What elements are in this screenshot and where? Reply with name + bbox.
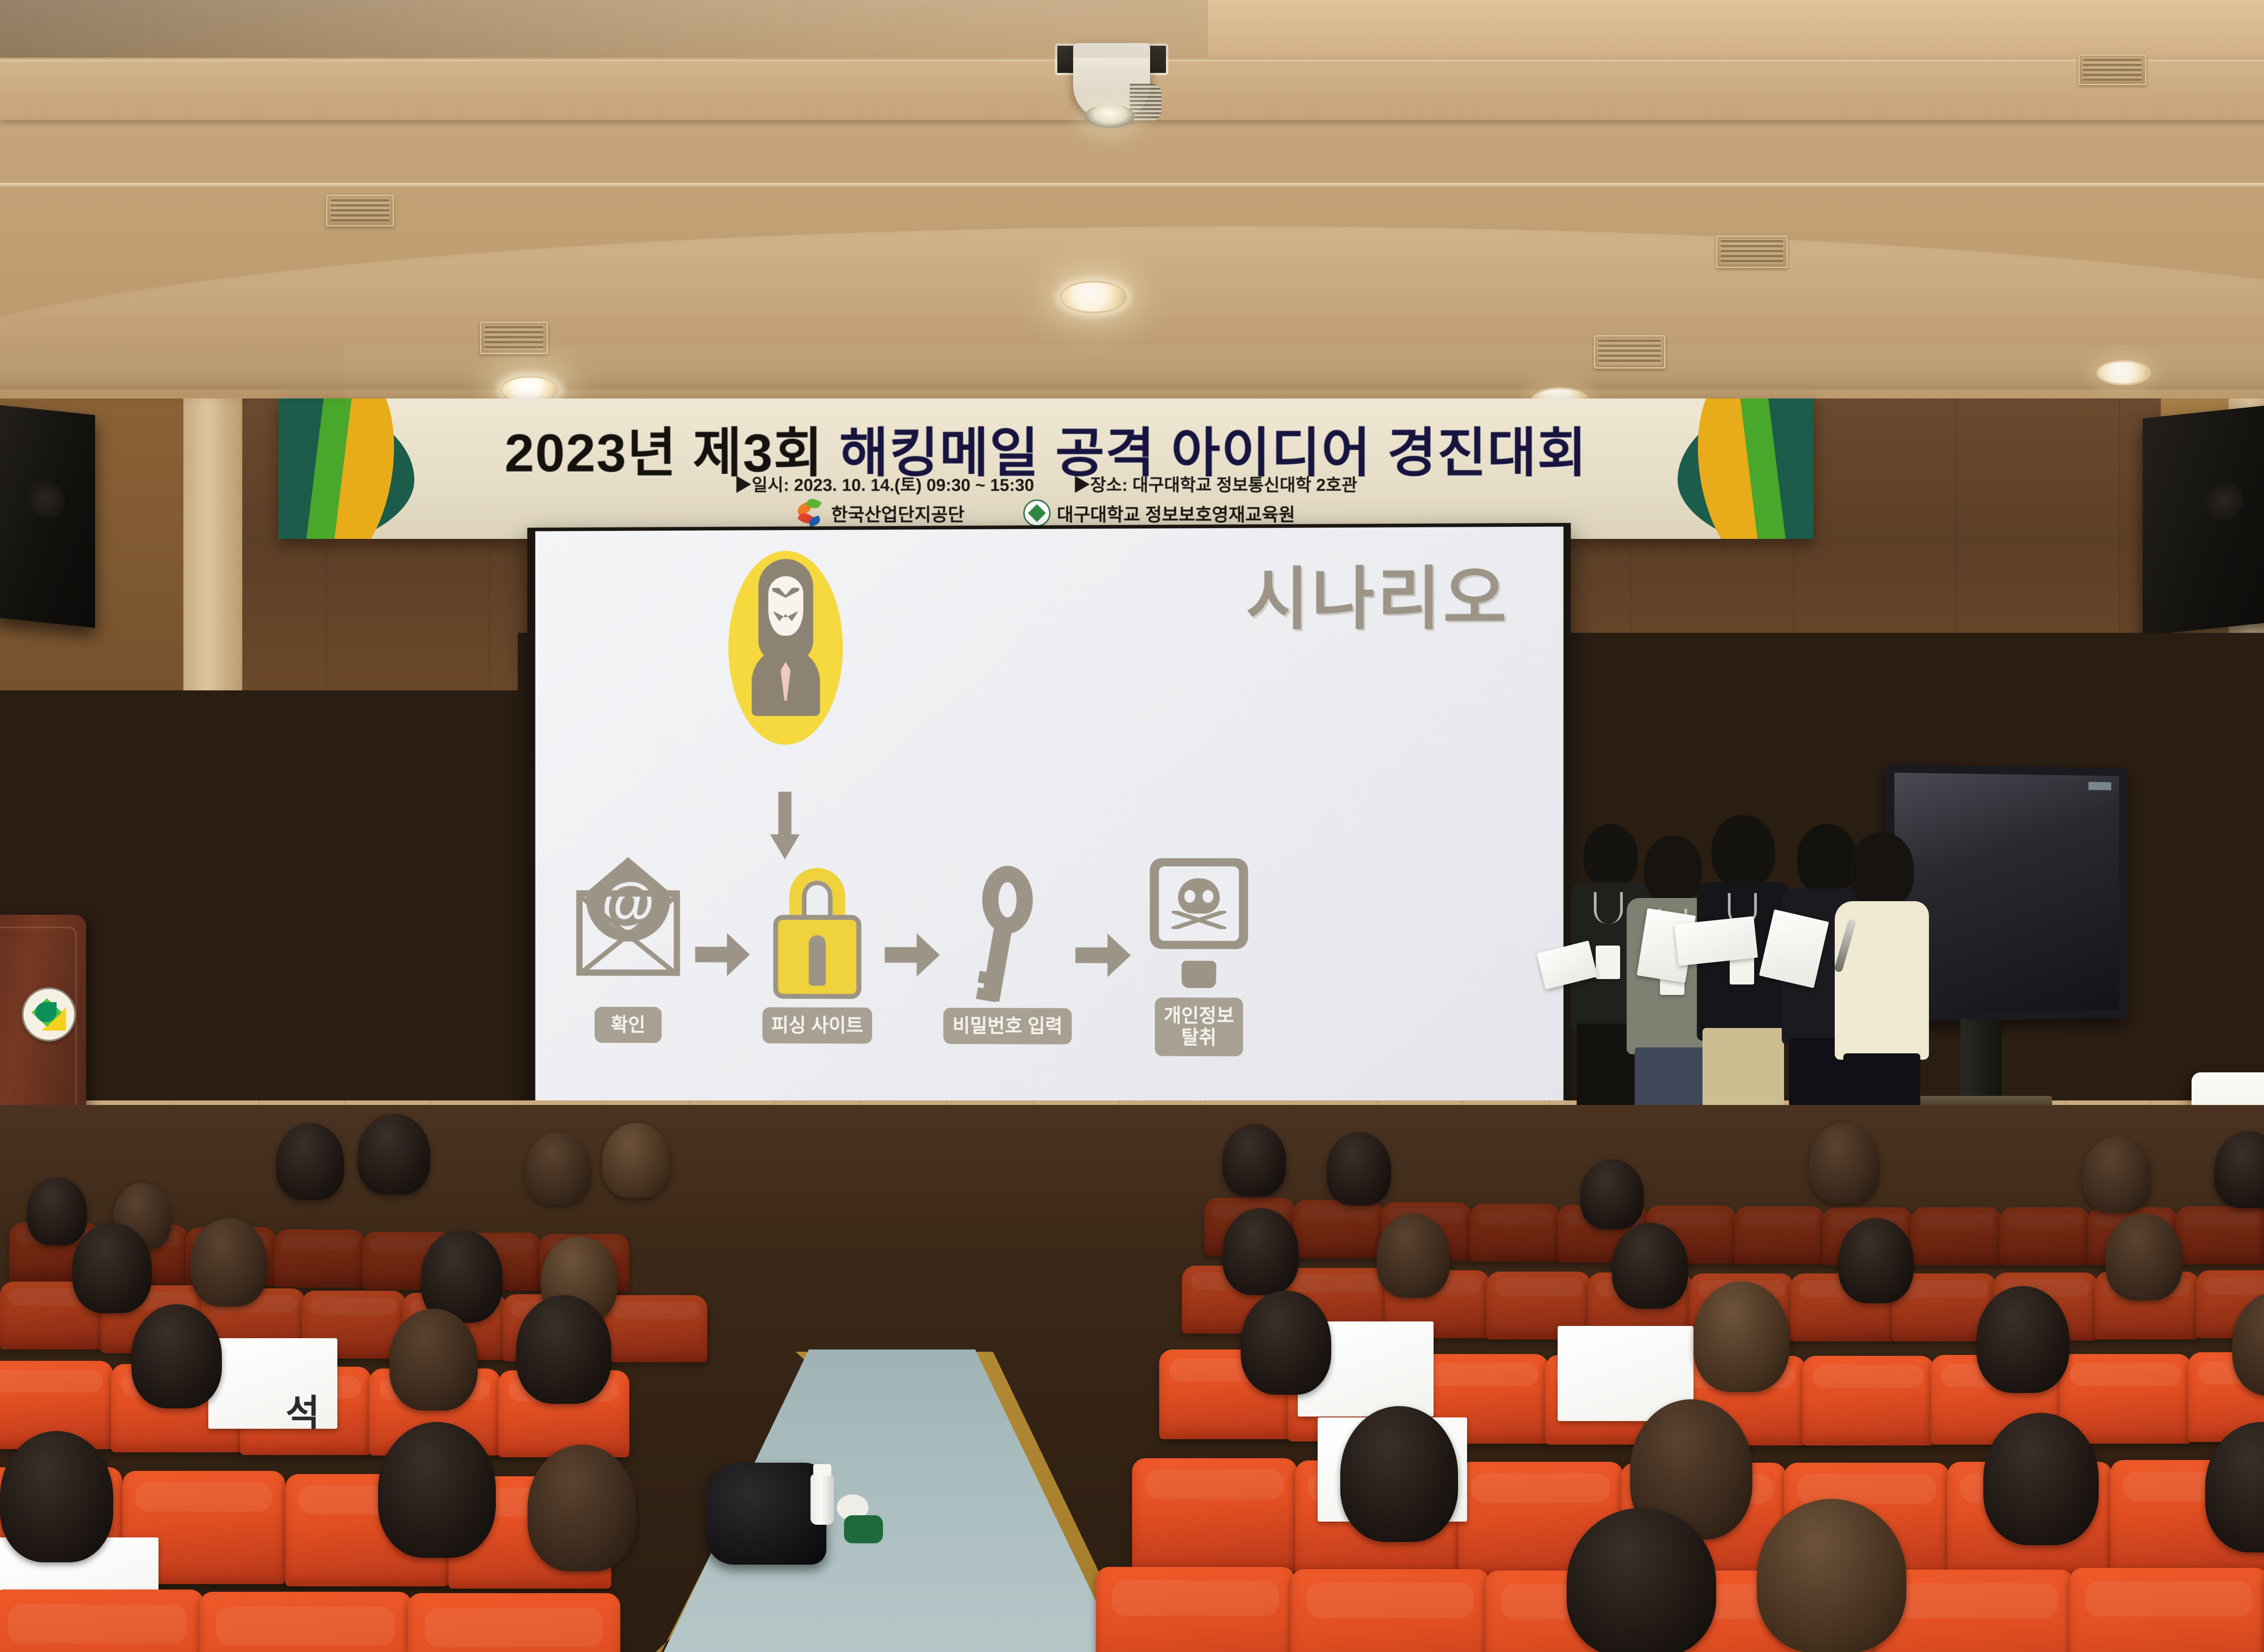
ceiling-downlight [2096, 360, 2151, 385]
organizer-kicox: 한국산업단지공단 [797, 499, 964, 527]
flow-step-4: 개인정보 탈취 [1131, 855, 1267, 1056]
email-at-envelope-icon: @ [576, 890, 680, 976]
flow-step-label: 비밀번호 입력 [944, 1008, 1072, 1045]
ceiling-curved-soffit [0, 226, 2264, 389]
audience-head [0, 1431, 113, 1562]
ceiling-soffit-edge-2 [0, 183, 2264, 187]
flow-step-1: @ 확인 [561, 865, 695, 1043]
plush-toy [834, 1494, 885, 1544]
seat [1293, 1200, 1383, 1258]
wall-pillar-left [183, 399, 242, 1196]
audience-head [602, 1123, 670, 1198]
seat [1132, 1458, 1297, 1572]
attack-flow-diagram: @ 확인 피싱 사이트 [561, 855, 1549, 1101]
banner-place: ▶장소: 대구대학교 정보통신대학 2호관 [1073, 471, 1357, 496]
flow-step-2: 피싱 사이트 [750, 866, 885, 1044]
slide-title: 시나리오 [1246, 543, 1509, 643]
flow-step-3: 비밀번호 입력 [940, 866, 1075, 1045]
audience-head [190, 1218, 267, 1306]
flow-step-label: 개인정보 탈취 [1155, 998, 1243, 1057]
monitor-stand [1961, 1019, 2001, 1105]
audience-head [1612, 1223, 1688, 1309]
seat [408, 1593, 620, 1652]
seat [274, 1229, 365, 1287]
water-bottle [811, 1474, 834, 1525]
seat [1734, 1206, 1825, 1264]
seat [1290, 1569, 1490, 1652]
audience-head [1223, 1124, 1286, 1196]
ceiling-vent [326, 195, 394, 226]
hanging-projector-rig [1041, 514, 1223, 682]
audience-head [358, 1114, 430, 1195]
audience-head [1976, 1286, 2069, 1393]
audience-head [1377, 1214, 1450, 1298]
speaker-cone-icon [26, 478, 65, 521]
audience-head [1809, 1123, 1879, 1204]
audience-head [276, 1123, 344, 1200]
audience-head [1693, 1282, 1789, 1392]
down-arrow-icon [770, 792, 800, 859]
ceiling-downlight [1060, 281, 1127, 313]
audience-head [72, 1223, 152, 1313]
audience-head [378, 1422, 496, 1558]
audience-head [1223, 1208, 1299, 1295]
seat [1096, 1567, 1295, 1652]
projector-lens-icon [1085, 104, 1135, 128]
speaker-cone-icon [2205, 480, 2244, 523]
skull-monitor-icon [1150, 858, 1248, 988]
ceiling-vent [1594, 335, 1665, 369]
audience-head [516, 1295, 611, 1404]
kicox-pinwheel-icon [797, 499, 825, 527]
seat [2176, 1206, 2264, 1264]
ceiling-vent [1716, 235, 1788, 268]
seat [2069, 1568, 2264, 1652]
ceiling-vent [2078, 54, 2146, 85]
audience-head [525, 1132, 591, 1205]
speaker-left [0, 404, 95, 628]
auditorium-photo: 2023년 제3회 해킹메일 공격 아이디어 경진대회 ▶일시: 2023. 1… [0, 0, 2264, 1652]
audience-head [1757, 1499, 1906, 1652]
audience-head [389, 1309, 478, 1411]
audience-head [1838, 1218, 1914, 1303]
key-icon [967, 866, 1048, 1002]
audience-head [2083, 1137, 2151, 1213]
hooded-hacker-guy-fawkes-mask-icon [729, 551, 843, 745]
audience-head [131, 1304, 222, 1408]
audience-head [27, 1177, 87, 1245]
seat [1469, 1204, 1560, 1262]
reserved-seat-sign: 석 [208, 1338, 337, 1429]
organizer-name: 한국산업단지공단 [831, 500, 964, 526]
audience-head [528, 1445, 636, 1571]
audience-head [1567, 1508, 1716, 1652]
banner-date: ▶일시: 2023. 10. 14.(토) 09:30 ~ 15:30 [734, 471, 1034, 496]
banner-subline: ▶일시: 2023. 10. 14.(토) 09:30 ~ 15:30 ▶장소:… [278, 471, 1813, 496]
backpack [706, 1463, 826, 1565]
right-arrow-icon [885, 933, 940, 977]
seat [603, 1295, 707, 1362]
flow-step-label: 피싱 사이트 [762, 1007, 872, 1044]
audience-head [1580, 1159, 1644, 1229]
audience-head [1983, 1413, 2099, 1545]
audience-head [1327, 1132, 1391, 1205]
seat [199, 1592, 412, 1652]
monitor-brand-logo-icon [2088, 782, 2111, 790]
seat [1802, 1356, 1934, 1445]
ceiling-vent [480, 322, 548, 354]
audience-head [2106, 1214, 2182, 1301]
right-arrow-icon [1075, 933, 1131, 977]
flow-step-label: 확인 [595, 1007, 662, 1043]
audience-head [1340, 1406, 1458, 1542]
ceiling [0, 0, 2264, 408]
seat [0, 1590, 204, 1652]
right-arrow-icon [695, 933, 750, 976]
padlock-icon [773, 868, 862, 999]
speaker-right [2143, 401, 2264, 636]
seat [1999, 1207, 2090, 1265]
seat [1911, 1207, 2001, 1265]
audience-head [1241, 1291, 1331, 1395]
daegu-university-emblem-icon [22, 987, 76, 1042]
